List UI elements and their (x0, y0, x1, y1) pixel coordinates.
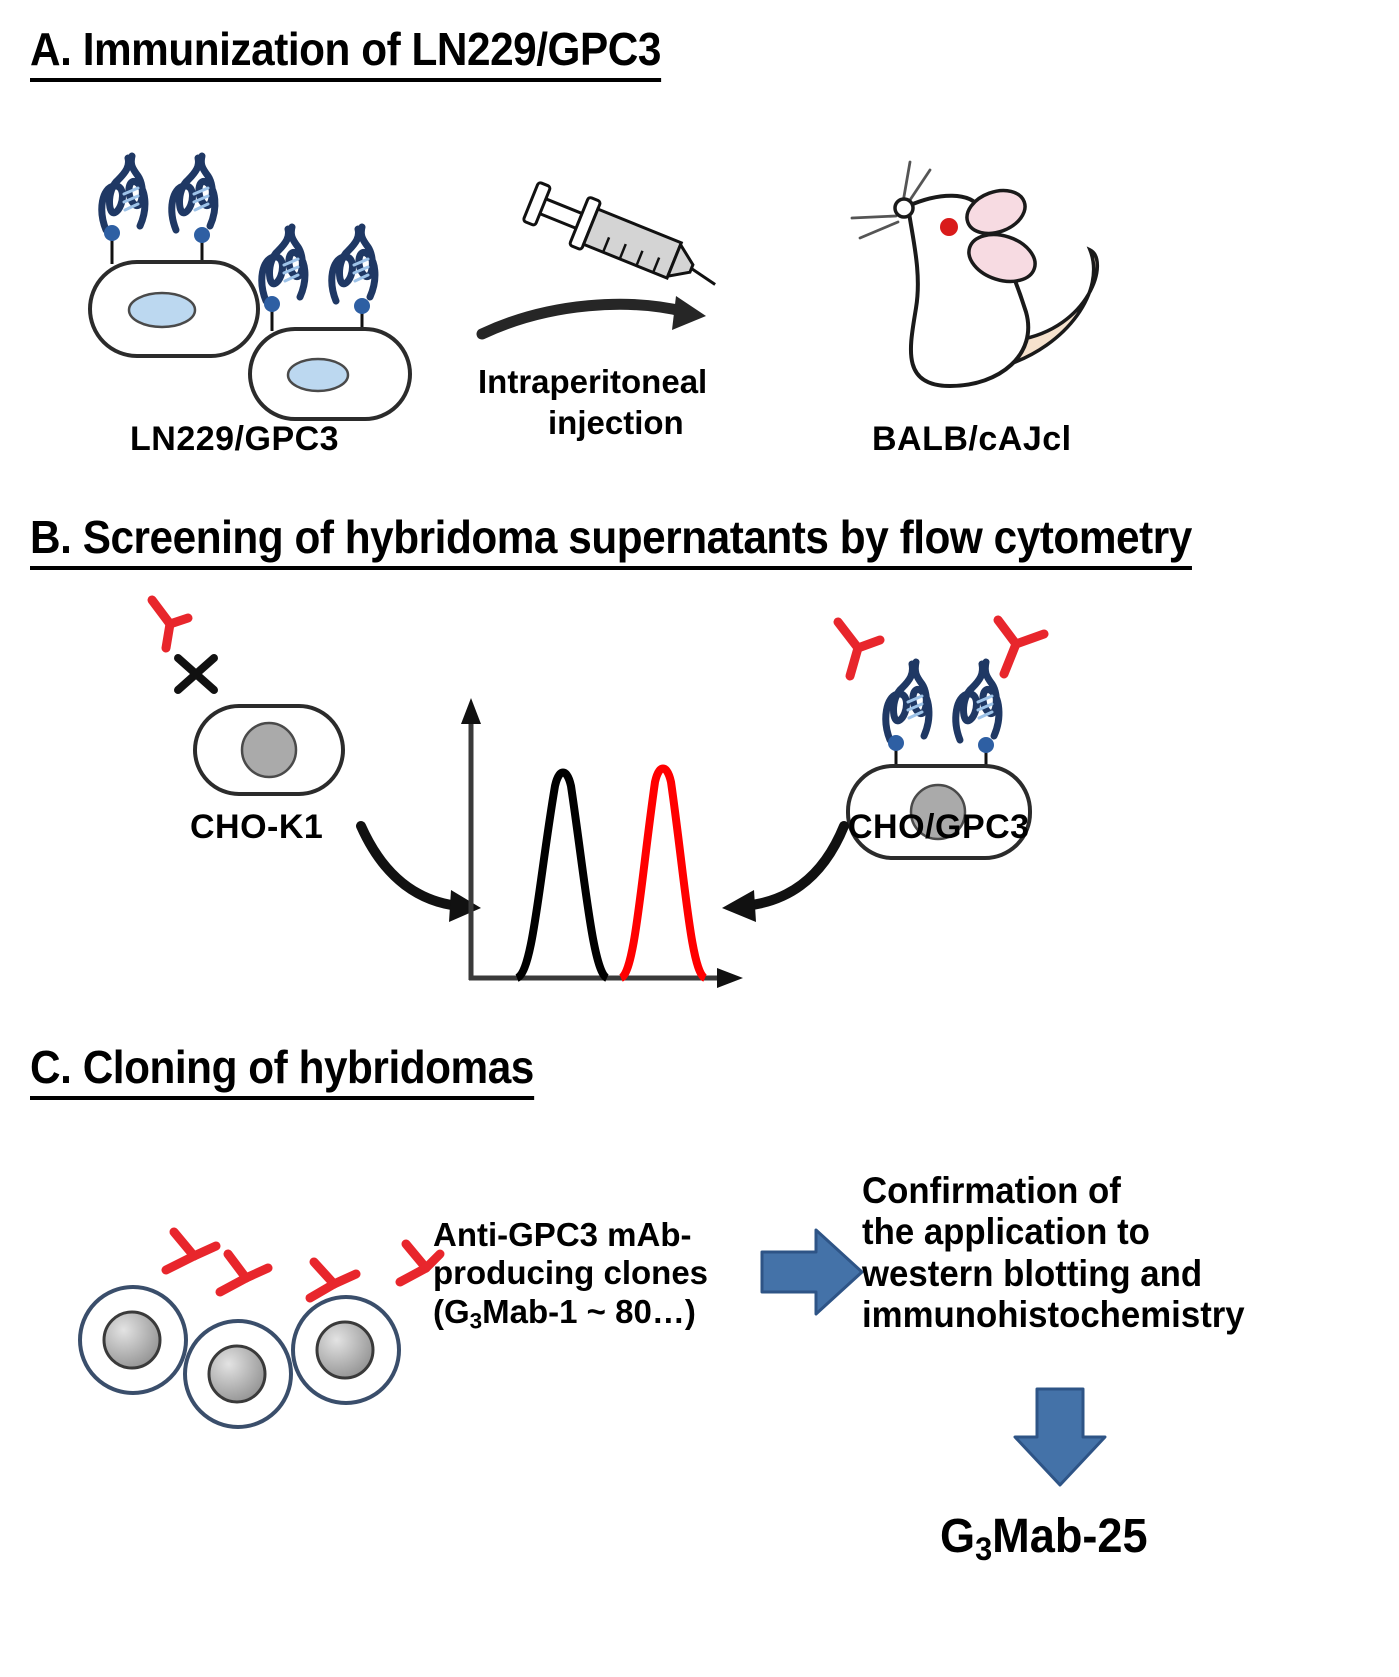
confirmation-line-4: immunohistochemistry (862, 1294, 1245, 1335)
confirmation-text-block: Confirmation of the application to weste… (862, 1170, 1245, 1336)
cho-k1-label: CHO-K1 (190, 808, 323, 847)
final-clone-name: G3Mab-25 (940, 1510, 1148, 1568)
panel-a-heading-text: A. Immunization of LN229/GPC3 (30, 22, 661, 82)
curved-arrow-right (480, 300, 720, 360)
block-arrow-down (1005, 1385, 1115, 1495)
injection-label-line1: Intraperitoneal (478, 363, 707, 401)
panel-b-heading: B. Screening of hybridoma supernatants b… (30, 510, 1192, 570)
mouse-icon (790, 140, 1110, 390)
flow-cytometry-chart (455, 690, 765, 1000)
confirmation-line-1: Confirmation of (862, 1170, 1245, 1211)
x-mark-icon (168, 648, 228, 708)
cho-gpc3-label: CHO/GPC3 (848, 808, 1030, 847)
syringe-icon (515, 190, 725, 300)
clones-line-1: Anti-GPC3 mAb- (433, 1216, 708, 1254)
cho-k1-cell (190, 700, 350, 805)
panel-a-heading: A. Immunization of LN229/GPC3 (30, 22, 661, 82)
block-arrow-right (758, 1222, 868, 1322)
clones-line-3-post: Mab-1 ~ 80…) (482, 1293, 696, 1330)
final-clone-post: Mab-25 (992, 1510, 1147, 1563)
clones-line-3: (G3Mab-1 ~ 80…) (433, 1293, 708, 1335)
ln229-gpc3-label: LN229/GPC3 (130, 420, 339, 459)
clones-text-block: Anti-GPC3 mAb- producing clones (G3Mab-1… (433, 1216, 708, 1334)
final-clone-pre: G (940, 1510, 975, 1563)
hybridoma-clones (60, 1150, 440, 1380)
mouse-strain-label: BALB/cAJcl (872, 420, 1072, 459)
clones-line-2: producing clones (433, 1254, 708, 1292)
panel-c-heading: C. Cloning of hybridomas (30, 1040, 534, 1100)
confirmation-line-2: the application to (862, 1211, 1245, 1252)
clones-line-3-pre: (G (433, 1293, 470, 1330)
panel-b-heading-text: B. Screening of hybridoma supernatants b… (30, 510, 1192, 570)
clones-line-3-sub: 3 (470, 1308, 482, 1333)
panel-c-heading-text: C. Cloning of hybridomas (30, 1040, 534, 1100)
confirmation-line-3: western blotting and (862, 1253, 1245, 1294)
final-clone-sub: 3 (975, 1530, 992, 1567)
injection-label-line2: injection (548, 404, 684, 442)
